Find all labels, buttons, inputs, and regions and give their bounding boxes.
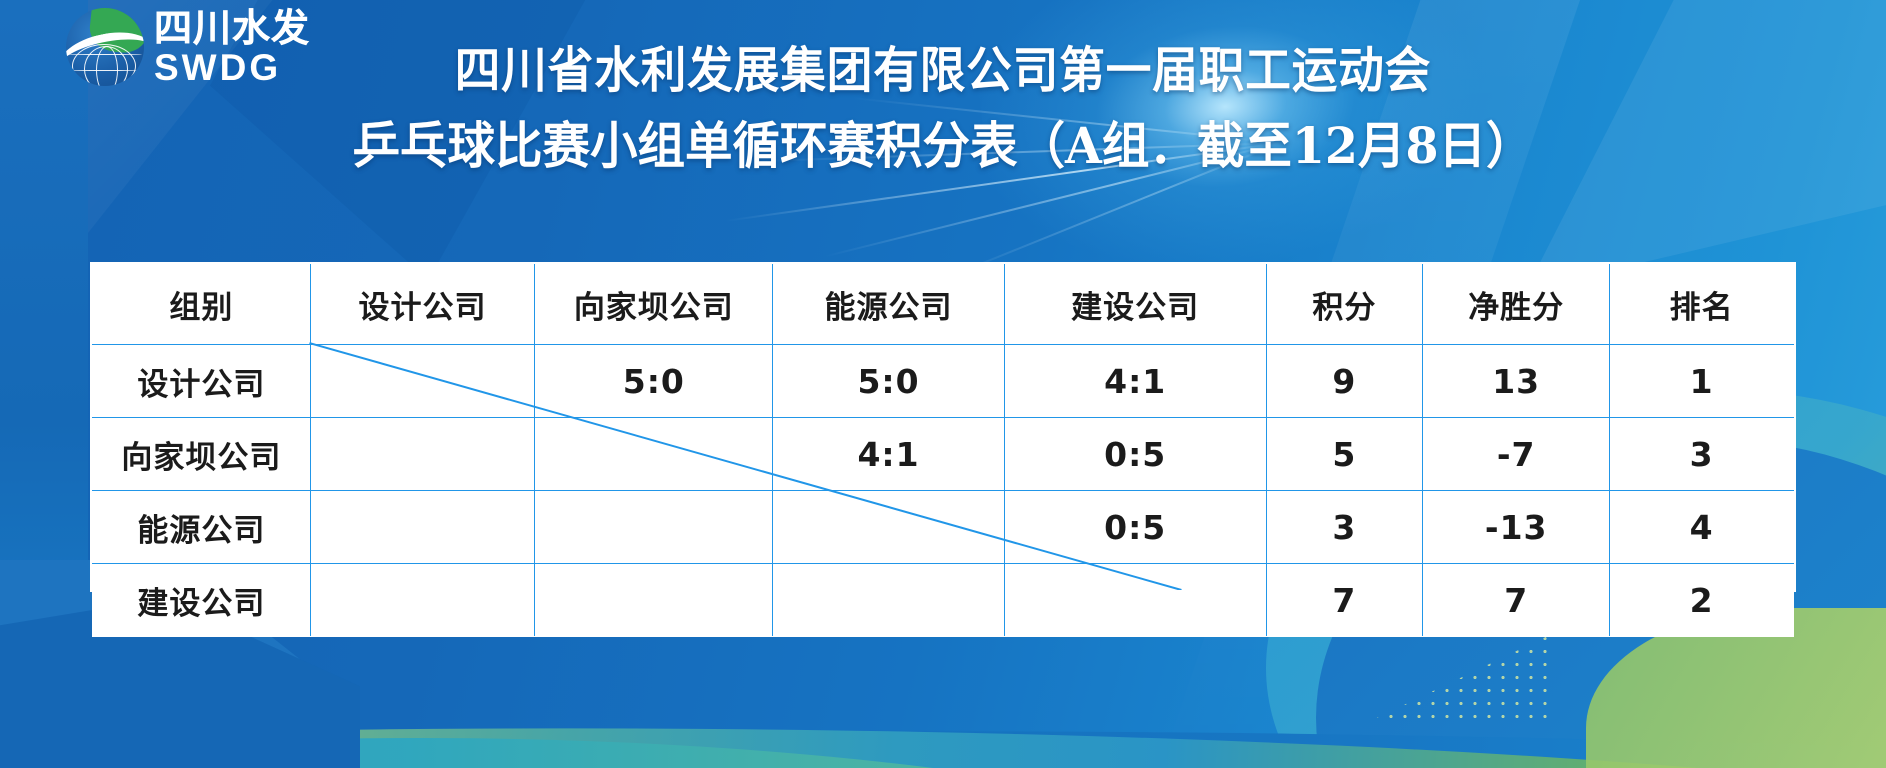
cell-points: 3 (1266, 491, 1422, 564)
cell-rank: 1 (1610, 345, 1794, 418)
column-header-net-score: 净胜分 (1423, 265, 1610, 345)
cell-vs-construction: 0:5 (1004, 418, 1266, 491)
page-title: 四川省水利发展集团有限公司第一届职工运动会 (66, 42, 1820, 100)
cell-net-score: -7 (1423, 418, 1610, 491)
dot-grid-decoration (1356, 632, 1556, 728)
table-body: 设计公司 5:0 5:0 4:1 9 13 1 向家坝公司 4:1 0:5 5 (93, 345, 1794, 637)
cell-points: 9 (1266, 345, 1422, 418)
table-header: 组别 设计公司 向家坝公司 能源公司 建设公司 积分 净胜分 排名 (93, 265, 1794, 345)
standings-table-container: 组别 设计公司 向家坝公司 能源公司 建设公司 积分 净胜分 排名 设计公司 5… (90, 262, 1796, 592)
table-header-row: 组别 设计公司 向家坝公司 能源公司 建设公司 积分 净胜分 排名 (93, 265, 1794, 345)
cell-vs-construction: 0:5 (1004, 491, 1266, 564)
cell-vs-xiangjiaba (535, 491, 773, 564)
cell-vs-xiangjiaba (535, 418, 773, 491)
row-team-name: 能源公司 (93, 491, 311, 564)
column-header-xiangjiaba: 向家坝公司 (535, 265, 773, 345)
cell-vs-xiangjiaba (535, 564, 773, 637)
cell-vs-design (310, 418, 535, 491)
title-block: 四川省水利发展集团有限公司第一届职工运动会 乒乓球比赛小组单循环赛积分表（A组．… (0, 42, 1886, 175)
table-row: 设计公司 5:0 5:0 4:1 9 13 1 (93, 345, 1794, 418)
logo-chinese-name: 四川水发 (154, 9, 310, 47)
cell-vs-construction (1004, 564, 1266, 637)
cell-net-score: 13 (1423, 345, 1610, 418)
row-team-name: 向家坝公司 (93, 418, 311, 491)
cell-vs-xiangjiaba: 5:0 (535, 345, 773, 418)
column-header-rank: 排名 (1610, 265, 1794, 345)
column-header-design: 设计公司 (310, 265, 535, 345)
cell-vs-energy (773, 491, 1004, 564)
table-row: 能源公司 0:5 3 -13 4 (93, 491, 1794, 564)
cell-vs-energy: 4:1 (773, 418, 1004, 491)
column-header-points: 积分 (1266, 265, 1422, 345)
cell-vs-design (310, 491, 535, 564)
cell-rank: 2 (1610, 564, 1794, 637)
cell-vs-energy (773, 564, 1004, 637)
cell-vs-design (310, 564, 535, 637)
poster-root: 四川水发 SWDG 四川省水利发展集团有限公司第一届职工运动会 乒乓球比赛小组单… (0, 0, 1886, 768)
table-row: 建设公司 7 7 2 (93, 564, 1794, 637)
row-team-name: 设计公司 (93, 345, 311, 418)
column-header-energy: 能源公司 (773, 265, 1004, 345)
cell-rank: 4 (1610, 491, 1794, 564)
standings-table: 组别 设计公司 向家坝公司 能源公司 建设公司 积分 净胜分 排名 设计公司 5… (92, 264, 1794, 637)
cell-net-score: 7 (1423, 564, 1610, 637)
page-subtitle: 乒乓球比赛小组单循环赛积分表（A组．截至12月8日） (47, 116, 1839, 175)
cell-net-score: -13 (1423, 491, 1610, 564)
table-row: 向家坝公司 4:1 0:5 5 -7 3 (93, 418, 1794, 491)
cell-points: 7 (1266, 564, 1422, 637)
column-header-construction: 建设公司 (1004, 265, 1266, 345)
cell-vs-energy: 5:0 (773, 345, 1004, 418)
column-header-group: 组别 (93, 265, 311, 345)
row-team-name: 建设公司 (93, 564, 311, 637)
cell-rank: 3 (1610, 418, 1794, 491)
cell-vs-design (310, 345, 535, 418)
cell-vs-construction: 4:1 (1004, 345, 1266, 418)
cell-points: 5 (1266, 418, 1422, 491)
